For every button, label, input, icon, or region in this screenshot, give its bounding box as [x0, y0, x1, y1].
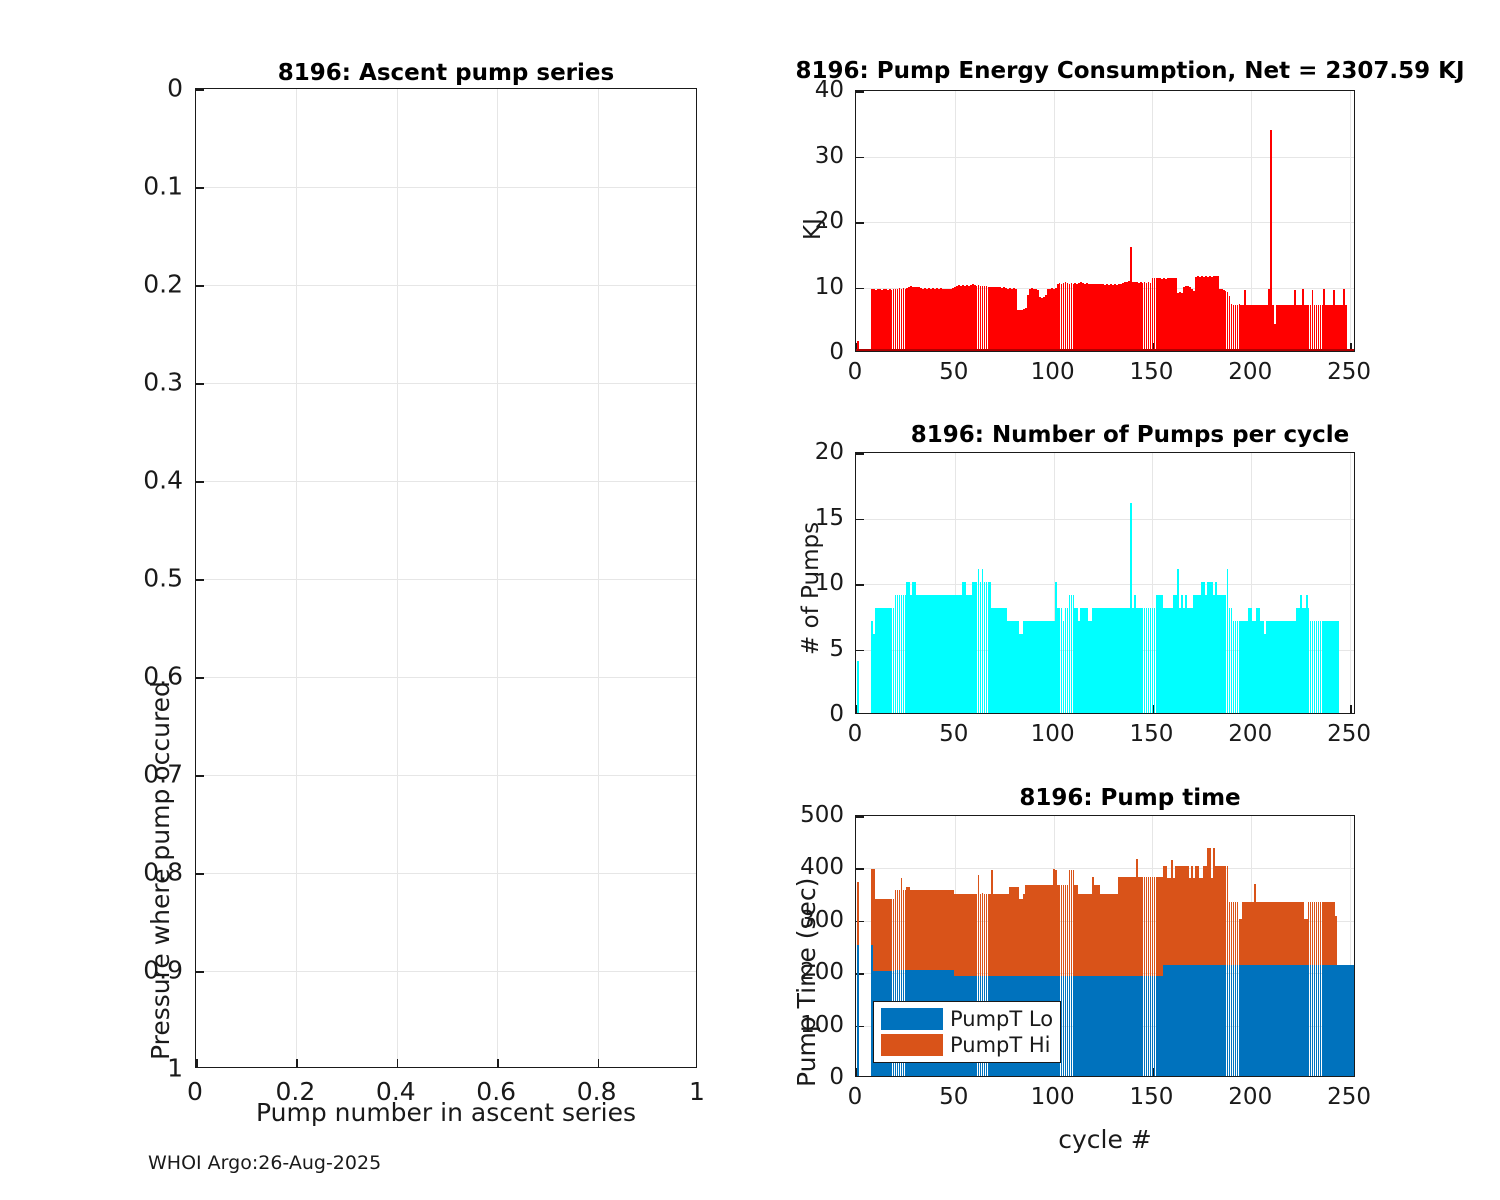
x-tick-label: 50	[939, 721, 968, 747]
x-tick-mark	[397, 1059, 399, 1067]
y-tick-mark	[196, 579, 204, 581]
pumps-bar	[857, 661, 859, 713]
x-tick-label: 100	[1031, 1084, 1075, 1110]
legend-item-pumpt-lo: PumpT Lo	[881, 1007, 1053, 1031]
y-tick-mark	[196, 677, 204, 679]
x-tick-label: 200	[1228, 359, 1272, 385]
y-tick-label: 0.2	[63, 270, 183, 299]
y-tick-mark	[856, 222, 864, 224]
y-tick-mark	[196, 383, 204, 385]
grid-line-horizontal	[196, 285, 696, 286]
x-tick-label: 50	[939, 1084, 968, 1110]
x-tick-mark	[196, 1059, 198, 1067]
energy-plot-title: 8196: Pump Energy Consumption, Net = 230…	[760, 58, 1500, 84]
y-tick-label: 10	[724, 274, 844, 300]
grid-line-vertical	[296, 89, 297, 1067]
pumptime-legend: PumpT Lo PumpT Hi	[873, 1001, 1061, 1063]
energy-bar	[1345, 305, 1347, 351]
pumptime-x-axis-label: cycle #	[855, 1125, 1355, 1154]
y-tick-mark	[856, 868, 864, 870]
legend-swatch-pumpt-lo	[881, 1008, 943, 1030]
pumps-y-axis-label: # of Pumps	[798, 522, 824, 655]
legend-swatch-pumpt-hi	[881, 1034, 943, 1056]
y-tick-label: 100	[724, 1012, 844, 1038]
legend-item-pumpt-hi: PumpT Hi	[881, 1033, 1053, 1057]
y-tick-mark	[196, 481, 204, 483]
y-tick-label: 30	[724, 143, 844, 169]
energy-baseline	[856, 349, 1354, 351]
y-tick-label: 0	[724, 701, 844, 727]
y-tick-label: 400	[724, 854, 844, 880]
pumpt-hi-bar	[857, 882, 859, 945]
pumptime-y-axis-label: Pump Time (sec)	[792, 878, 821, 1087]
grid-line-vertical	[598, 89, 599, 1067]
x-tick-label: 100	[1031, 359, 1075, 385]
grid-line-horizontal	[856, 584, 1354, 585]
pump-energy-consumption-panel: 8196: Pump Energy Consumption, Net = 230…	[760, 0, 1500, 400]
grid-line-horizontal	[196, 775, 696, 776]
grid-line-horizontal	[856, 222, 1354, 223]
x-tick-label: 50	[939, 359, 968, 385]
y-tick-label: 20	[724, 439, 844, 465]
pumptime-plot-title: 8196: Pump time	[760, 785, 1500, 811]
y-tick-label: 0.5	[63, 564, 183, 593]
ascent-x-axis-label: Pump number in ascent series	[195, 1098, 697, 1127]
y-tick-mark	[856, 816, 864, 818]
ascent-y-axis-label: Pressure where pump occured	[146, 681, 175, 1060]
pumpt-lo-bar	[857, 945, 859, 1076]
legend-label-pumpt-lo: PumpT Lo	[950, 1007, 1053, 1031]
x-tick-mark	[296, 1059, 298, 1067]
y-tick-mark	[856, 1076, 864, 1077]
pumpt-lo-bar	[1353, 965, 1355, 1076]
y-tick-mark	[856, 91, 864, 93]
x-tick-mark	[1350, 705, 1352, 713]
ascent-plot-title: 8196: Ascent pump series	[195, 60, 697, 86]
y-tick-mark	[856, 713, 864, 714]
pump-time-panel: 8196: Pump time PumpT Lo PumpT Hi 010020…	[760, 775, 1500, 1200]
y-tick-label: 20	[724, 208, 844, 234]
energy-y-axis-label: KJ	[800, 218, 826, 240]
grid-line-horizontal	[196, 873, 696, 874]
x-tick-label: 200	[1228, 1084, 1272, 1110]
y-tick-mark	[196, 285, 204, 287]
y-tick-mark	[196, 89, 204, 91]
x-tick-label: 0	[848, 721, 863, 747]
y-tick-label: 0.4	[63, 466, 183, 495]
y-tick-label: 500	[724, 802, 844, 828]
grid-line-horizontal	[196, 383, 696, 384]
y-tick-mark	[856, 519, 864, 521]
x-tick-label: 0	[848, 359, 863, 385]
y-tick-mark	[196, 971, 204, 973]
grid-line-horizontal	[196, 481, 696, 482]
ascent-plot-area	[195, 88, 697, 1068]
y-tick-mark	[196, 187, 204, 189]
pumps-bar	[1337, 621, 1339, 713]
pumps-plot-title: 8196: Number of Pumps per cycle	[760, 422, 1500, 448]
y-tick-mark	[856, 157, 864, 159]
y-tick-mark	[856, 584, 864, 586]
pumpt-hi-bar	[1335, 916, 1337, 966]
y-tick-label: 300	[724, 907, 844, 933]
grid-line-vertical	[1350, 91, 1351, 351]
y-tick-label: 0	[724, 339, 844, 365]
y-tick-mark	[856, 453, 864, 455]
legend-label-pumpt-hi: PumpT Hi	[950, 1033, 1051, 1057]
y-tick-label: 15	[724, 505, 844, 531]
grid-line-horizontal	[856, 519, 1354, 520]
grid-line-vertical	[1350, 453, 1351, 713]
x-tick-mark	[696, 1059, 697, 1067]
grid-line-horizontal	[196, 579, 696, 580]
y-tick-label: 0.1	[63, 172, 183, 201]
x-tick-label: 250	[1327, 721, 1371, 747]
y-tick-mark	[196, 1067, 204, 1068]
y-tick-label: 200	[724, 959, 844, 985]
x-tick-label: 150	[1129, 1084, 1173, 1110]
x-tick-label: 0	[848, 1084, 863, 1110]
y-tick-label: 0.3	[63, 368, 183, 397]
y-tick-mark	[196, 873, 204, 875]
ascent-pump-series-panel: 8196: Ascent pump series 00.10.20.30.40.…	[0, 0, 760, 1140]
y-tick-label: 5	[724, 636, 844, 662]
y-tick-mark	[856, 288, 864, 290]
grid-line-horizontal	[196, 971, 696, 972]
x-tick-mark	[497, 1059, 499, 1067]
grid-line-vertical	[497, 89, 498, 1067]
footer-credit: WHOI Argo:26-Aug-2025	[148, 1152, 381, 1174]
x-tick-label: 250	[1327, 1084, 1371, 1110]
y-tick-label: 40	[724, 77, 844, 103]
y-tick-label: 0	[724, 1064, 844, 1090]
y-tick-mark	[856, 650, 864, 652]
x-tick-label: 150	[1129, 721, 1173, 747]
grid-line-horizontal	[196, 187, 696, 188]
grid-line-horizontal	[196, 677, 696, 678]
number-of-pumps-panel: 8196: Number of Pumps per cycle 05101520…	[760, 400, 1500, 775]
grid-line-horizontal	[856, 868, 1354, 869]
energy-plot-area	[855, 90, 1355, 352]
x-tick-mark	[598, 1059, 600, 1067]
x-tick-label: 150	[1129, 359, 1173, 385]
y-tick-label: 0	[63, 74, 183, 103]
x-tick-label: 200	[1228, 721, 1272, 747]
pumps-plot-area	[855, 452, 1355, 714]
grid-line-horizontal	[856, 157, 1354, 158]
x-tick-label: 100	[1031, 721, 1075, 747]
y-tick-mark	[196, 775, 204, 777]
grid-line-vertical	[397, 89, 398, 1067]
y-tick-mark	[856, 351, 864, 352]
y-tick-label: 10	[724, 570, 844, 596]
x-tick-label: 250	[1327, 359, 1371, 385]
